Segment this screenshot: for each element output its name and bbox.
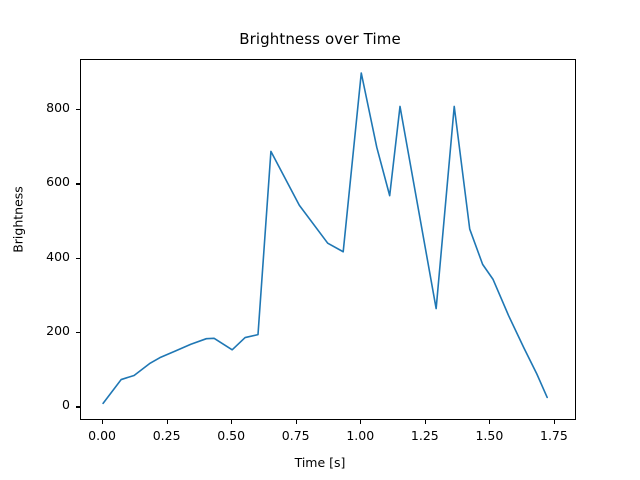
matplotlib-figure: Brightness over Time 0200400600800 0.000…	[0, 0, 640, 480]
brightness-line-series	[103, 73, 547, 403]
x-axis-label: Time [s]	[0, 455, 640, 470]
x-tick-label: 1.00	[330, 430, 390, 443]
x-tick-label: 0.00	[72, 430, 132, 443]
y-tick-label: 0	[10, 399, 70, 412]
y-tick-label: 200	[10, 325, 70, 338]
y-tick-label: 800	[10, 102, 70, 115]
y-axis-label: Brightness	[11, 140, 26, 300]
x-tick-label: 0.75	[266, 430, 326, 443]
line-series-svg	[81, 60, 577, 421]
x-tick-label: 1.25	[395, 430, 455, 443]
plot-area	[80, 59, 576, 420]
page-title: Brightness over Time	[0, 30, 640, 48]
x-tick-label: 0.50	[201, 430, 261, 443]
x-tick-label: 1.75	[524, 430, 584, 443]
x-tick-label: 0.25	[137, 430, 197, 443]
x-tick-label: 1.50	[459, 430, 519, 443]
